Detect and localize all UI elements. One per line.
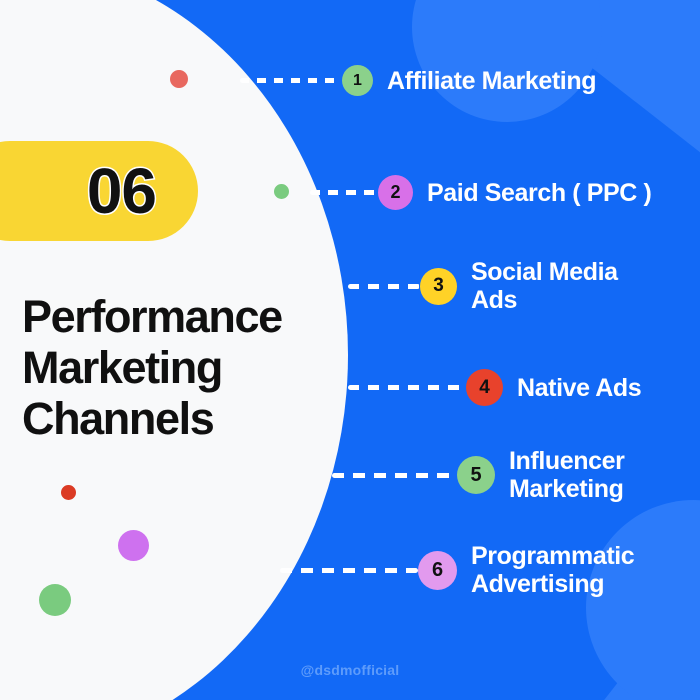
channel-row[interactable]: 3Social Media Ads [348, 258, 618, 314]
channel-label: Influencer Marketing [509, 447, 624, 503]
channel-label: Social Media Ads [471, 258, 618, 314]
channel-number-circle[interactable]: 5 [457, 456, 495, 494]
connector-dashed-line [280, 568, 418, 573]
green-marker-dot [274, 184, 289, 199]
infographic-canvas: 06 Performance Marketing Channels 1Affil… [0, 0, 700, 700]
channel-row[interactable]: 2Paid Search ( PPC ) [310, 175, 651, 210]
connector-dashed-line [348, 385, 466, 390]
connector-dashed-line [240, 78, 342, 83]
channel-row[interactable]: 1Affiliate Marketing [240, 65, 596, 96]
red-dot [61, 485, 76, 500]
channel-number-circle[interactable]: 4 [466, 369, 503, 406]
connector-dashed-line [332, 473, 457, 478]
social-handle: @dsdmofficial [0, 662, 700, 678]
channel-label: Native Ads [517, 374, 641, 402]
channel-label: Affiliate Marketing [387, 67, 596, 95]
channel-label: Paid Search ( PPC ) [427, 179, 651, 207]
channel-row[interactable]: 5Influencer Marketing [332, 447, 624, 503]
step-number-text: 06 [87, 159, 156, 223]
connector-dashed-line [310, 190, 378, 195]
channel-number-circle[interactable]: 2 [378, 175, 413, 210]
purple-dot [118, 530, 149, 561]
red-marker-dot [170, 70, 188, 88]
green-dot [39, 584, 71, 616]
step-number-badge: 06 [0, 141, 198, 241]
channel-row[interactable]: 4Native Ads [348, 369, 641, 406]
page-title: Performance Marketing Channels [22, 292, 342, 445]
channel-label: Programmatic Advertising [471, 542, 634, 598]
channel-number-circle[interactable]: 3 [420, 268, 457, 305]
channel-row[interactable]: 6Programmatic Advertising [280, 542, 634, 598]
decorative-circle-top-right [412, 0, 602, 122]
channel-number-circle[interactable]: 6 [418, 551, 457, 590]
channel-number-circle[interactable]: 1 [342, 65, 373, 96]
connector-dashed-line [348, 284, 420, 289]
